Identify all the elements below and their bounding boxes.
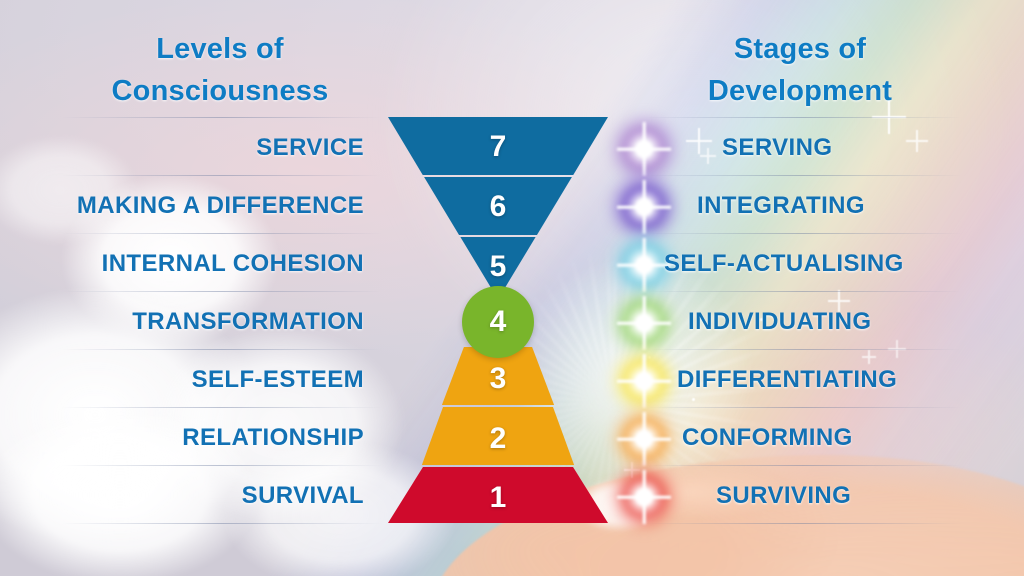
stage-label-5[interactable]: SELF-ACTUALISING bbox=[664, 248, 904, 280]
stage-label-1[interactable]: SURVIVING bbox=[716, 480, 851, 512]
level-number-4: 4 bbox=[462, 286, 534, 358]
stage-label-7[interactable]: SERVING bbox=[722, 132, 832, 164]
consciousness-label-2[interactable]: RELATIONSHIP bbox=[182, 422, 364, 454]
consciousness-label-3[interactable]: SELF-ESTEEM bbox=[192, 364, 364, 396]
slide-canvas: Levels of Consciousness Stages of Develo… bbox=[0, 0, 1024, 576]
consciousness-label-1[interactable]: SURVIVAL bbox=[242, 480, 364, 512]
level-band-4[interactable]: 4 bbox=[462, 286, 534, 358]
stage-label-4[interactable]: INDIVIDUATING bbox=[688, 306, 871, 338]
consciousness-label-4[interactable]: TRANSFORMATION bbox=[132, 306, 364, 338]
consciousness-label-7[interactable]: SERVICE bbox=[256, 132, 364, 164]
consciousness-label-6[interactable]: MAKING A DIFFERENCE bbox=[77, 190, 364, 222]
stage-label-6[interactable]: INTEGRATING bbox=[697, 190, 865, 222]
stage-label-2[interactable]: CONFORMING bbox=[682, 422, 853, 454]
consciousness-label-5[interactable]: INTERNAL COHESION bbox=[102, 248, 364, 280]
stage-label-3[interactable]: DIFFERENTIATING bbox=[677, 364, 897, 396]
